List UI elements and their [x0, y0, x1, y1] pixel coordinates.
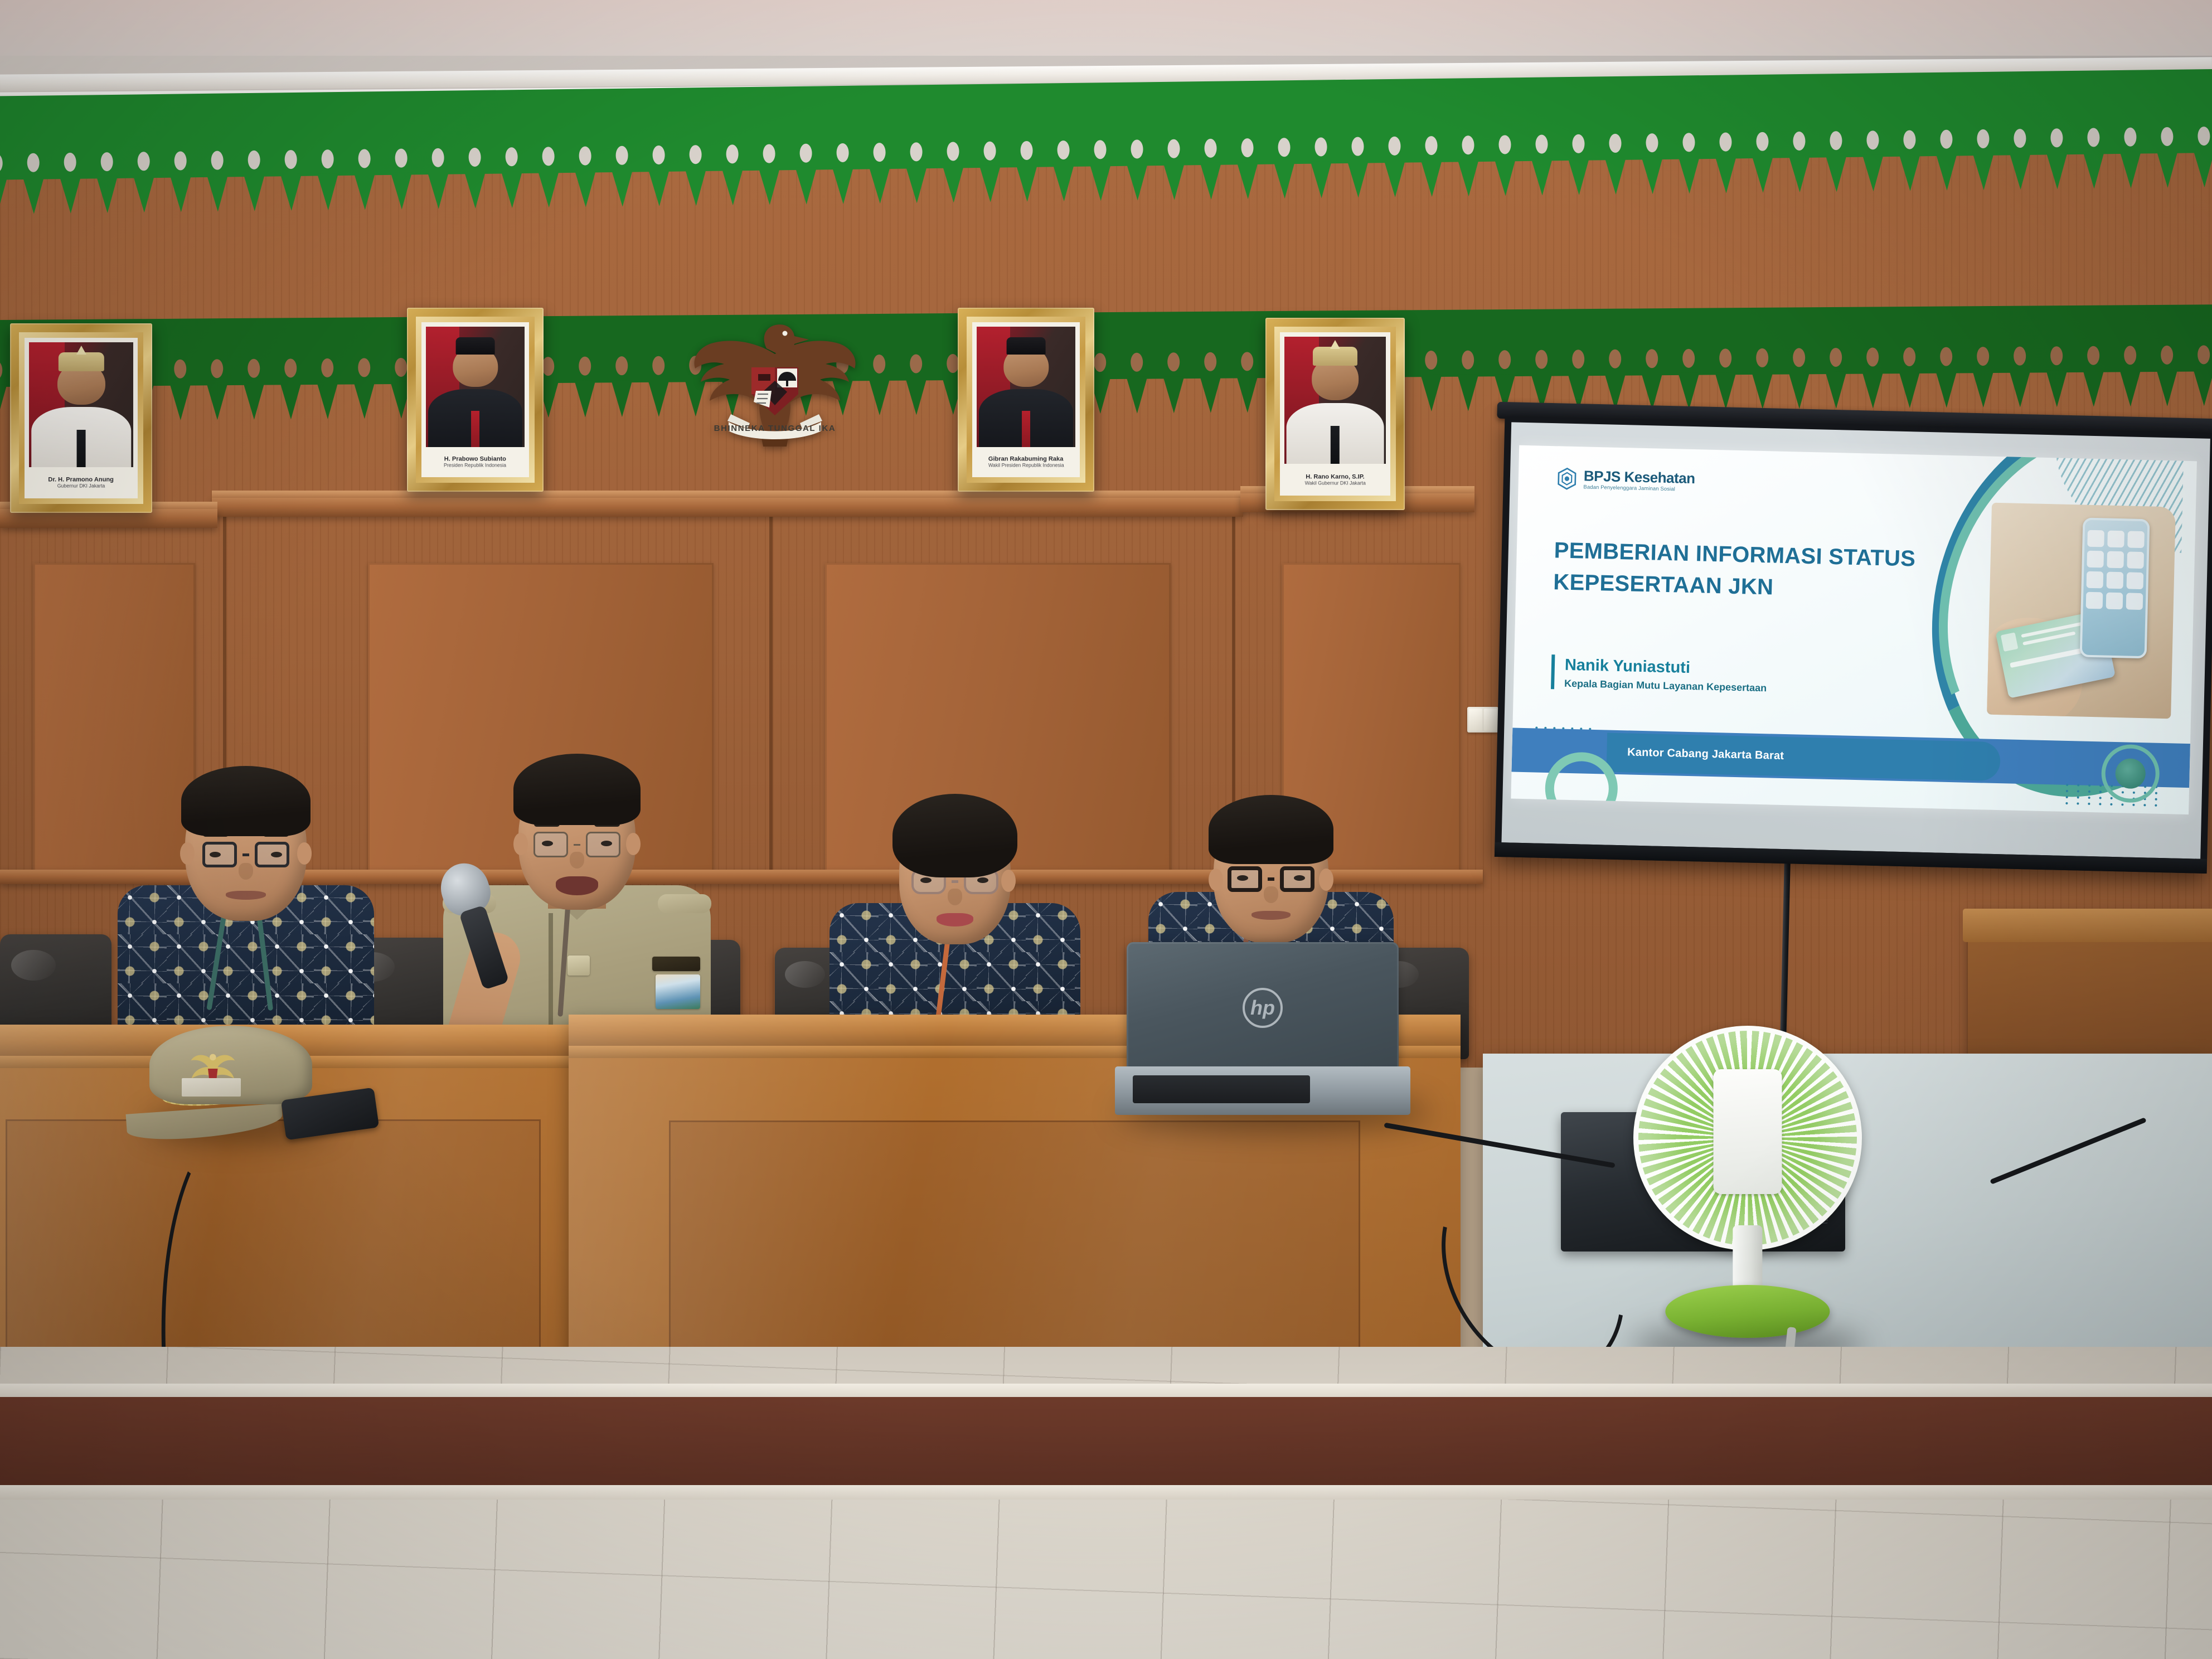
- person-2-nose: [570, 852, 584, 869]
- valance-tooth: [898, 378, 934, 415]
- lectern-top: [1963, 909, 2212, 942]
- valance-tooth: [1855, 154, 1892, 192]
- valance-tooth: [1781, 372, 1817, 409]
- valance-hole: [2038, 127, 2075, 149]
- valance-tooth: [1192, 163, 1230, 200]
- slide-dot: [2088, 790, 2090, 793]
- hp-logo: hp: [1243, 988, 1283, 1028]
- valance-tooth: [604, 169, 641, 207]
- valance-hole: [898, 352, 934, 375]
- slide-dot: [2065, 802, 2068, 804]
- valance-hole: [1192, 351, 1229, 373]
- valance-hole: [1229, 350, 1265, 372]
- valance-hole: [309, 148, 346, 171]
- garuda-pancasila-emblem: BHINNEKA TUNGGAL IKA: [677, 315, 872, 454]
- valance-hole: [1891, 128, 1928, 151]
- valance-hole: [1486, 133, 1523, 156]
- person-1-hair: [181, 766, 311, 836]
- person-1-nose: [239, 863, 253, 880]
- portrait-frame-vice-president: Gibran Rakabuming Raka Wakil Presiden Re…: [958, 308, 1094, 492]
- person-4-hair: [1209, 795, 1333, 864]
- valance-tooth: [1229, 162, 1267, 200]
- valance-tooth: [641, 169, 678, 207]
- person-3-eye-right: [977, 877, 988, 883]
- person-4-ear-left: [1209, 869, 1223, 891]
- app-icon: [2106, 592, 2123, 609]
- portrait-caption: H. Rano Karno, S.IP. Wakil Gubernur DKI …: [1284, 464, 1386, 496]
- valance-hole: [346, 356, 382, 379]
- person-4-eye-left: [1237, 875, 1248, 881]
- wall-ledge-top: [212, 491, 1243, 498]
- slide-dot: [2143, 804, 2146, 806]
- app-icon: [2107, 530, 2124, 547]
- slide-dot: [2155, 792, 2157, 794]
- slide-dot: [2065, 796, 2068, 798]
- slide-dot: [2077, 797, 2079, 799]
- valance-tooth: [346, 382, 382, 419]
- slide-dot: [2088, 803, 2090, 805]
- valance-hole: [1192, 137, 1229, 160]
- light-switch-left[interactable]: [1469, 709, 1482, 731]
- valance-tooth: [236, 174, 273, 211]
- laptop-keyboard[interactable]: [1133, 1075, 1310, 1103]
- valance-hole: [2148, 344, 2185, 366]
- valance-hole: [971, 139, 1008, 162]
- slide-dot: [2077, 784, 2079, 787]
- valance-hole: [1523, 348, 1560, 370]
- valance-hole: [1449, 134, 1486, 157]
- valance-tooth: [2186, 151, 2212, 188]
- person-1: [109, 746, 382, 1069]
- valance-tooth: [309, 382, 346, 419]
- slide-dot: [2132, 804, 2135, 806]
- portrait-frame-governor: Dr. H. Pramono Anung Gubernur DKI Jakart…: [10, 323, 152, 513]
- slide-dot: [2077, 803, 2079, 805]
- valance-tooth: [1266, 162, 1303, 199]
- portrait-tie: [76, 430, 86, 467]
- portrait-name: Dr. H. Pramono Anung: [48, 476, 114, 483]
- valance-hole: [530, 145, 566, 168]
- portrait-photo: [29, 342, 133, 467]
- valance-tooth: [1744, 156, 1782, 193]
- person-2-eye-left: [542, 841, 553, 846]
- valance-hole: [861, 141, 898, 164]
- valance-tooth: [1008, 165, 1046, 202]
- valance-hole: [1229, 137, 1265, 159]
- floor-border-stripe: [0, 1397, 2212, 1486]
- valance-hole: [1707, 130, 1744, 153]
- valance-hole: [1265, 136, 1302, 159]
- valance-tooth: [1487, 159, 1524, 196]
- floor-skirting-lower: [0, 1485, 2212, 1500]
- wall-seam: [769, 502, 773, 870]
- valance-hole: [2112, 344, 2148, 366]
- valance-hole: [1045, 139, 1081, 162]
- person-2-mouth: [556, 876, 598, 895]
- valance-tooth: [1449, 374, 1486, 411]
- valance-tooth: [714, 168, 751, 206]
- portrait-mat: Gibran Rakabuming Raka Wakil Presiden Re…: [972, 322, 1080, 477]
- app-icon: [2086, 571, 2103, 588]
- valance-hole: [640, 144, 677, 167]
- valance-tooth: [861, 167, 899, 204]
- floor-skirting: [0, 1384, 2212, 1398]
- person-1-mouth: [226, 891, 266, 900]
- person-1-ear-right: [297, 842, 312, 865]
- slide-dot: [2110, 797, 2112, 799]
- valance-tooth: [420, 172, 457, 209]
- portrait-photo: [426, 327, 525, 447]
- app-icon-grid: [2085, 530, 2144, 609]
- valance-hole: [1008, 139, 1045, 162]
- peci-hat: [1006, 337, 1046, 354]
- valance-hole: [2185, 343, 2212, 366]
- valance-tooth: [1524, 158, 1561, 196]
- valance-tooth: [2038, 370, 2075, 407]
- valance-hole: [198, 149, 235, 172]
- person-1-eye-left: [210, 852, 221, 857]
- valance-hole: [1744, 347, 1781, 369]
- valance-hole: [493, 145, 530, 168]
- valance-hole: [1707, 347, 1744, 369]
- slide-dot: [2155, 798, 2157, 801]
- person-2-ear-right: [626, 833, 641, 855]
- valance-hole: [2001, 345, 2038, 367]
- valance-hole: [1486, 348, 1523, 371]
- valance-hole: [198, 357, 235, 380]
- slide-dot: [2099, 797, 2101, 799]
- valance-tooth: [1817, 372, 1854, 409]
- valance-tooth: [788, 167, 825, 205]
- valance-hole: [566, 144, 603, 167]
- cap-nameplate: [182, 1078, 240, 1097]
- slide-dot: [2088, 784, 2090, 787]
- valance-tooth: [2039, 152, 2076, 190]
- person-3-ear-right: [1001, 870, 1016, 892]
- slide-speaker-block: Nanik Yuniastuti Kepala Bagian Mutu Laya…: [1551, 654, 1767, 694]
- bpjs-wordmark: BPJS Kesehatan Badan Penyelenggara Jamin…: [1583, 469, 1695, 493]
- valance-tooth: [824, 167, 862, 205]
- valance-hole: [235, 148, 272, 171]
- app-icon: [2107, 551, 2124, 568]
- portrait-inner-frame: Gibran Rakabuming Raka Wakil Presiden Re…: [967, 317, 1085, 483]
- valance-hole: [1118, 351, 1155, 373]
- valance-tooth: [1450, 159, 1487, 197]
- portrait-mat: H. Prabowo Subianto Presiden Republik In…: [421, 322, 529, 477]
- portrait-mat: H. Rano Karno, S.IP. Wakil Gubernur DKI …: [1280, 332, 1390, 496]
- valance-tooth: [309, 173, 347, 211]
- valance-tooth: [1597, 158, 1634, 195]
- person-1-ear-left: [180, 842, 195, 865]
- valance-hole: [346, 147, 382, 170]
- portrait-role: Wakil Presiden Republik Indonesia: [988, 463, 1064, 468]
- slide-dot: [2066, 784, 2068, 786]
- ceremonial-hat: [1313, 347, 1357, 366]
- valance-tooth: [2149, 151, 2186, 188]
- valance-hole: [2075, 126, 2112, 149]
- valance-hole: [272, 357, 309, 379]
- valance-hole: [1781, 346, 1817, 368]
- valance-tooth: [1340, 161, 1377, 198]
- slide-dot: [2066, 790, 2068, 792]
- ceiling-upper-band: [0, 0, 2212, 56]
- valance-tooth: [566, 380, 603, 417]
- valance-hole: [1155, 137, 1192, 160]
- portrait-inner-frame: H. Prabowo Subianto Presiden Republik In…: [416, 317, 535, 483]
- glasses-bridge: [952, 880, 958, 883]
- valance-hole: [382, 147, 419, 169]
- peci-hat: [455, 337, 495, 354]
- slide-dot: [2088, 797, 2090, 799]
- valance-hole: [1817, 346, 1854, 368]
- portrait-inner-frame: H. Rano Karno, S.IP. Wakil Gubernur DKI …: [1274, 327, 1396, 501]
- app-icon: [2085, 591, 2103, 609]
- app-icon: [2127, 551, 2144, 569]
- valance-hole: [1413, 134, 1449, 157]
- valance-tooth: [603, 380, 640, 417]
- valance-tooth: [2148, 370, 2185, 406]
- valance-hole: [1891, 346, 1928, 368]
- valance-tooth: [1155, 376, 1192, 413]
- app-icon: [2087, 550, 2104, 567]
- valance-hole: [1928, 128, 1964, 151]
- portrait-tie: [1022, 411, 1031, 447]
- person-1-eye-right: [271, 852, 282, 857]
- light-switch-right[interactable]: [1484, 709, 1497, 731]
- valance-hole: [1633, 347, 1670, 370]
- person-3-mouth: [937, 913, 973, 926]
- valance-hole: [1339, 135, 1376, 158]
- app-icon: [2126, 572, 2143, 589]
- valance-tooth: [1854, 371, 1891, 408]
- valance-tooth: [1744, 372, 1781, 409]
- glasses-bridge: [242, 853, 249, 856]
- valance-tooth: [2002, 153, 2039, 190]
- valance-hole: [1670, 347, 1707, 370]
- valance-tooth: [235, 383, 272, 420]
- person-2-chest-emblem: [567, 955, 590, 976]
- portrait-caption: Gibran Rakabuming Raka Wakil Presiden Re…: [977, 447, 1075, 477]
- valance-hole: [677, 143, 714, 166]
- valance-hole: [2112, 125, 2148, 148]
- valance-tooth: [2075, 370, 2112, 407]
- valance-tooth: [751, 168, 788, 205]
- valance-hole: [1928, 345, 1964, 367]
- person-4-mouth: [1251, 911, 1291, 920]
- light-switch-panel[interactable]: [1467, 707, 1498, 733]
- hp-laptop[interactable]: hp: [1115, 942, 1410, 1115]
- valance-hole: [603, 144, 640, 167]
- portrait-role: Gubernur DKI Jakarta: [57, 484, 105, 489]
- portrait-name: Gibran Rakabuming Raka: [988, 455, 1063, 462]
- valance-tooth: [898, 166, 935, 203]
- valance-hole: [750, 142, 787, 165]
- valance-tooth: [2112, 151, 2150, 188]
- valance-hole: [1781, 130, 1817, 153]
- valance-hole: [1744, 130, 1781, 153]
- portrait-frame-vice-governor: H. Rano Karno, S.IP. Wakil Gubernur DKI …: [1265, 318, 1405, 510]
- valance-hole: [1523, 133, 1560, 156]
- valance-tooth: [198, 383, 235, 420]
- valance-hole: [1302, 135, 1339, 158]
- valance-tooth: [1303, 161, 1340, 198]
- valance-hole: [1964, 128, 2001, 151]
- valance-tooth: [677, 169, 715, 206]
- valance-hole: [1118, 138, 1155, 161]
- projector-screen: BPJS Kesehatan Badan Penyelenggara Jamin…: [1495, 416, 2212, 874]
- person-2-epaulette-right: [658, 894, 711, 913]
- valance-hole: [309, 357, 346, 379]
- valance-tooth: [199, 174, 236, 212]
- person-2-hair: [513, 754, 641, 825]
- valance-tooth: [1045, 164, 1083, 202]
- valance-tooth: [1413, 375, 1449, 411]
- app-icon: [2127, 531, 2145, 548]
- valance-tooth: [935, 166, 972, 203]
- valance-tooth: [1156, 163, 1193, 200]
- valance-hole: [1633, 132, 1670, 154]
- wall-ledge: [212, 498, 1243, 517]
- portrait-mat: Dr. H. Pramono Anung Gubernur DKI Jakart…: [25, 338, 138, 498]
- person-4-eye-right: [1294, 875, 1305, 881]
- valance-hole: [1854, 346, 1891, 368]
- valance-hole: [88, 151, 125, 173]
- portrait-inner-frame: Dr. H. Pramono Anung Gubernur DKI Jakart…: [19, 332, 143, 504]
- desk-fan[interactable]: [1633, 1026, 1862, 1338]
- valance-hole: [1817, 129, 1854, 152]
- slide-dot: [2099, 791, 2102, 793]
- valance-tooth: [383, 172, 420, 210]
- speaker-name: Nanik Yuniastuti: [1565, 655, 1768, 680]
- portrait-role: Presiden Republik Indonesia: [444, 463, 506, 468]
- valance-tooth: [1376, 160, 1414, 197]
- portrait-tie: [1331, 426, 1340, 464]
- valance-hole: [640, 354, 677, 376]
- valance-hole: [714, 143, 750, 166]
- valance-hole: [1413, 349, 1449, 371]
- valance-tooth: [530, 171, 567, 208]
- valance-hole: [603, 355, 640, 377]
- valance-hole: [787, 142, 824, 164]
- valance-hole: [1081, 138, 1118, 161]
- valance-tooth: [2185, 369, 2212, 406]
- valance-tooth: [1413, 160, 1451, 197]
- valance-tooth: [1818, 155, 1855, 192]
- valance-hole: [1155, 351, 1192, 373]
- portrait-photo: [1284, 337, 1386, 464]
- valance-hole: [934, 140, 971, 163]
- slide-dot: [2121, 803, 2123, 806]
- valance-hole: [235, 357, 272, 380]
- person-2-shoulder-patch-pemda: [652, 957, 700, 971]
- valance-hole: [2148, 125, 2185, 148]
- valance-tooth: [493, 171, 531, 208]
- valance-tooth: [640, 380, 677, 416]
- cap-garuda-badge: [188, 1047, 237, 1078]
- valance-tooth: [1891, 154, 1929, 191]
- screen-canvas: BPJS Kesehatan Badan Penyelenggara Jamin…: [1501, 422, 2210, 858]
- valance-hole: [0, 152, 15, 174]
- valance-tooth: [1670, 373, 1707, 410]
- valance-tooth: [567, 170, 604, 207]
- valance-hole: [1964, 345, 2001, 367]
- valance-hole: [419, 146, 456, 169]
- valance-tooth: [1560, 158, 1598, 195]
- portrait-name: H. Prabowo Subianto: [444, 455, 506, 462]
- portrait-tie: [471, 411, 480, 447]
- slide-photo-jkn-mobile: [1987, 502, 2176, 719]
- bpjs-hexagon-icon: [1555, 468, 1578, 491]
- valance-tooth: [1633, 373, 1670, 410]
- valance-hole: [14, 151, 51, 174]
- slide-dot: [2077, 790, 2079, 793]
- slide-dot: [2099, 785, 2102, 787]
- mobile-jkn-app-illustration: [2079, 517, 2150, 658]
- app-icon: [2087, 530, 2104, 547]
- garuda-motto-text: BHINNEKA TUNGGAL IKA: [714, 424, 836, 433]
- valance-hole: [125, 150, 162, 173]
- valance-tooth: [1119, 163, 1156, 201]
- slide-dot: [2155, 804, 2157, 807]
- valance-tooth: [125, 176, 163, 213]
- person-2-eye-right: [601, 841, 612, 846]
- speaker-role: Kepala Bagian Mutu Layanan Kepesertaan: [1564, 678, 1767, 695]
- fan-motor-hub: [1714, 1069, 1782, 1194]
- valance-hole: [566, 355, 603, 377]
- portrait-frame-president: H. Prabowo Subianto Presiden Republik In…: [407, 308, 544, 492]
- person-2-ear-left: [513, 833, 528, 855]
- portrait-role: Wakil Gubernur DKI Jakarta: [1304, 481, 1365, 486]
- valance-tooth: [1891, 371, 1928, 408]
- valance-hole: [1597, 132, 1633, 155]
- slide-dot: [2110, 803, 2112, 806]
- fan-base[interactable]: [1665, 1285, 1830, 1338]
- screen-border: BPJS Kesehatan Badan Penyelenggara Jamin…: [1495, 416, 2212, 874]
- person-4-nose: [1264, 886, 1278, 903]
- portrait-photo: [977, 327, 1075, 447]
- portrait-caption: Dr. H. Pramono Anung Gubernur DKI Jakart…: [29, 467, 133, 498]
- valance-tooth: [15, 177, 52, 214]
- portrait-name: H. Rano Karno, S.IP.: [1306, 473, 1364, 480]
- valance-tooth: [1671, 157, 1708, 194]
- slide-dot: [2099, 803, 2101, 806]
- valance-hole: [456, 146, 493, 169]
- valance-hole: [1449, 348, 1486, 371]
- valance-hole: [162, 357, 198, 380]
- person-3-eye-left: [920, 877, 932, 883]
- valance-tooth: [1928, 371, 1964, 408]
- valance-tooth: [1965, 153, 2002, 191]
- valance-tooth: [1707, 372, 1744, 409]
- valance-hole: [1597, 348, 1633, 370]
- valance-tooth: [272, 382, 309, 419]
- valance-hole: [162, 149, 198, 172]
- valance-tooth: [457, 172, 494, 209]
- valance-tooth: [52, 176, 89, 214]
- valance-tooth: [89, 176, 126, 214]
- person-3-nose: [948, 889, 962, 905]
- valance-tooth: [2001, 370, 2038, 407]
- valance-tooth: [162, 175, 200, 212]
- valance-hole: [2001, 127, 2038, 150]
- valance-hole: [2185, 125, 2212, 148]
- meeting-room-photo: Dr. H. Pramono Anung Gubernur DKI Jakart…: [0, 0, 2212, 1659]
- laptop-base: [1115, 1066, 1410, 1115]
- glasses-bridge: [1268, 877, 1274, 881]
- valance-tooth: [1707, 156, 1745, 193]
- person-4-ear-right: [1319, 869, 1333, 891]
- valance-hole: [2075, 345, 2112, 367]
